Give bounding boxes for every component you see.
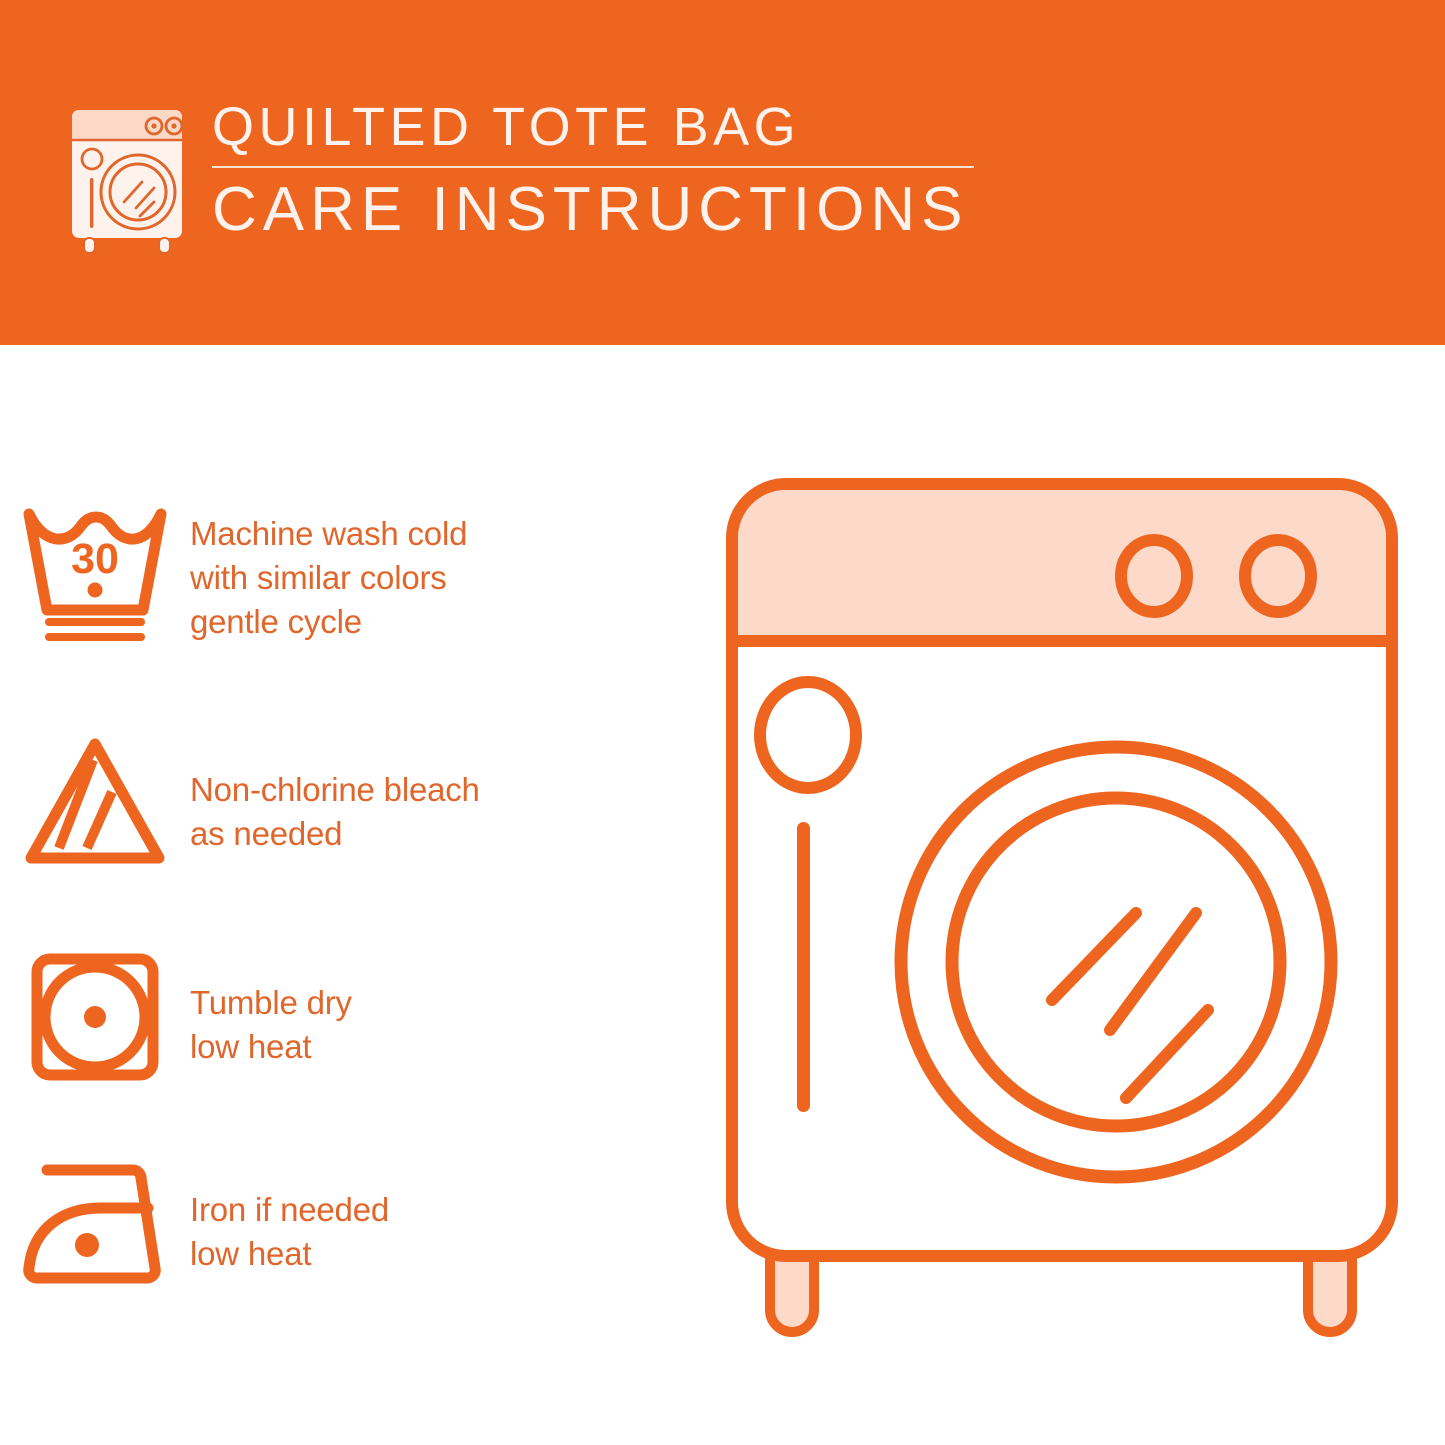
care-instructions-infographic: QUILTED TOTE BAG CARE INSTRUCTIONS 30	[0, 0, 1445, 1445]
care-item-tumble-dry: Tumble dry low heat	[0, 945, 690, 1095]
tumble-dry-low-icon	[0, 945, 190, 1095]
care-item-label: Machine wash cold with similar colors ge…	[190, 500, 467, 644]
machine-wash-basin-icon: 30	[0, 500, 190, 650]
care-item-machine-wash: 30 Machine wash cold with similar colors…	[0, 500, 690, 650]
page-title: QUILTED TOTE BAG	[212, 100, 992, 154]
care-item-bleach: Non-chlorine bleach as needed	[0, 730, 690, 880]
machine-leg-right	[1308, 1252, 1352, 1332]
machine-leg-left	[770, 1252, 814, 1332]
care-item-iron: Iron if needed low heat	[0, 1150, 690, 1300]
header-divider	[212, 166, 974, 168]
header-text-block: QUILTED TOTE BAG CARE INSTRUCTIONS	[212, 100, 992, 241]
care-item-label: Iron if needed low heat	[190, 1150, 389, 1276]
care-item-label: Tumble dry low heat	[190, 945, 352, 1069]
large-washing-machine-illustration	[718, 470, 1418, 1370]
door-handle	[797, 822, 810, 1112]
washing-machine-icon	[62, 104, 192, 256]
non-chlorine-bleach-triangle-icon	[0, 730, 190, 880]
machine-control-panel	[738, 490, 1386, 640]
page-subtitle: CARE INSTRUCTIONS	[212, 178, 992, 241]
care-instruction-list: 30 Machine wash cold with similar colors…	[0, 345, 690, 1445]
iron-low-heat-icon	[0, 1150, 190, 1300]
header-band: QUILTED TOTE BAG CARE INSTRUCTIONS	[0, 0, 1445, 345]
care-item-label: Non-chlorine bleach as needed	[190, 730, 480, 856]
wash-temp-label: 30	[71, 535, 119, 583]
